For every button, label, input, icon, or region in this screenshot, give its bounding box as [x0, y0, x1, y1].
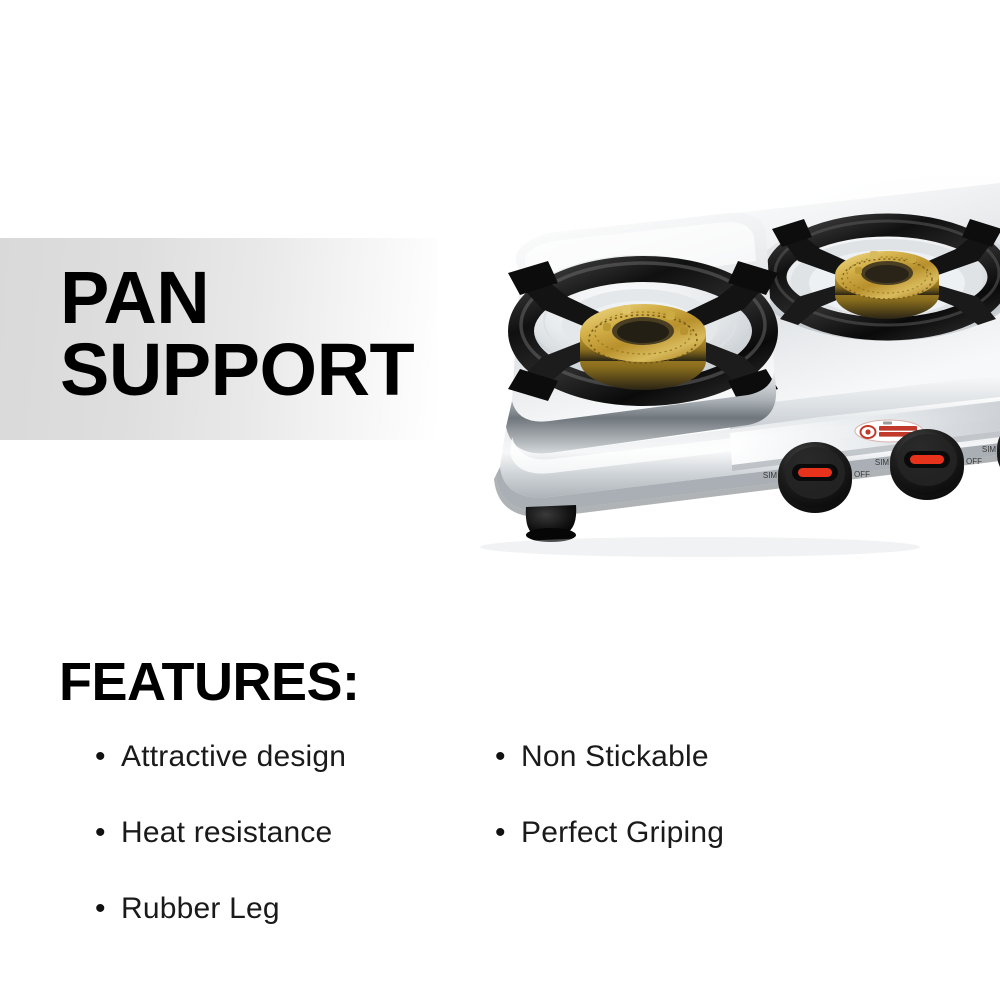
rubber-leg	[526, 505, 576, 542]
feature-label: Attractive design	[121, 742, 346, 772]
list-item: • Heat resistance	[95, 818, 495, 894]
feature-label: Perfect Griping	[521, 818, 724, 848]
gas-stove-illustration: SIM OFF SIM OFF SIM	[400, 175, 1000, 575]
bullet-icon: •	[95, 818, 121, 848]
features-heading: FEATURES:	[59, 655, 360, 709]
bullet-icon: •	[95, 742, 121, 772]
spacer	[495, 894, 915, 970]
features-list: • Attractive design • Heat resistance • …	[95, 742, 955, 970]
knob-label-sim-1: SIM	[763, 471, 778, 480]
bullet-icon: •	[495, 818, 521, 848]
product-image: SIM OFF SIM OFF SIM	[400, 175, 1000, 575]
list-item: • Rubber Leg	[95, 894, 495, 970]
burner-cap-front	[580, 304, 706, 390]
knob-label-sim-2: SIM	[875, 458, 890, 467]
bullet-icon: •	[95, 894, 121, 924]
list-item: • Non Stickable	[495, 742, 915, 818]
feature-label: Heat resistance	[121, 818, 332, 848]
list-item: • Attractive design	[95, 742, 495, 818]
knob-label-off-1: OFF	[854, 470, 870, 479]
banner-heading: PAN SUPPORT	[60, 262, 414, 406]
knob-label-off-2: OFF	[966, 457, 982, 466]
burner-cap-rear	[835, 251, 939, 319]
feature-label: Rubber Leg	[121, 894, 280, 924]
features-column-left: • Attractive design • Heat resistance • …	[95, 742, 495, 970]
list-item: • Perfect Griping	[495, 818, 915, 894]
knob-label-sim-3: SIM	[982, 445, 997, 454]
feature-label: Non Stickable	[521, 742, 709, 772]
features-column-right: • Non Stickable • Perfect Griping	[495, 742, 915, 970]
bullet-icon: •	[495, 742, 521, 772]
poster-canvas: SIM OFF SIM OFF SIM	[0, 0, 1000, 1000]
